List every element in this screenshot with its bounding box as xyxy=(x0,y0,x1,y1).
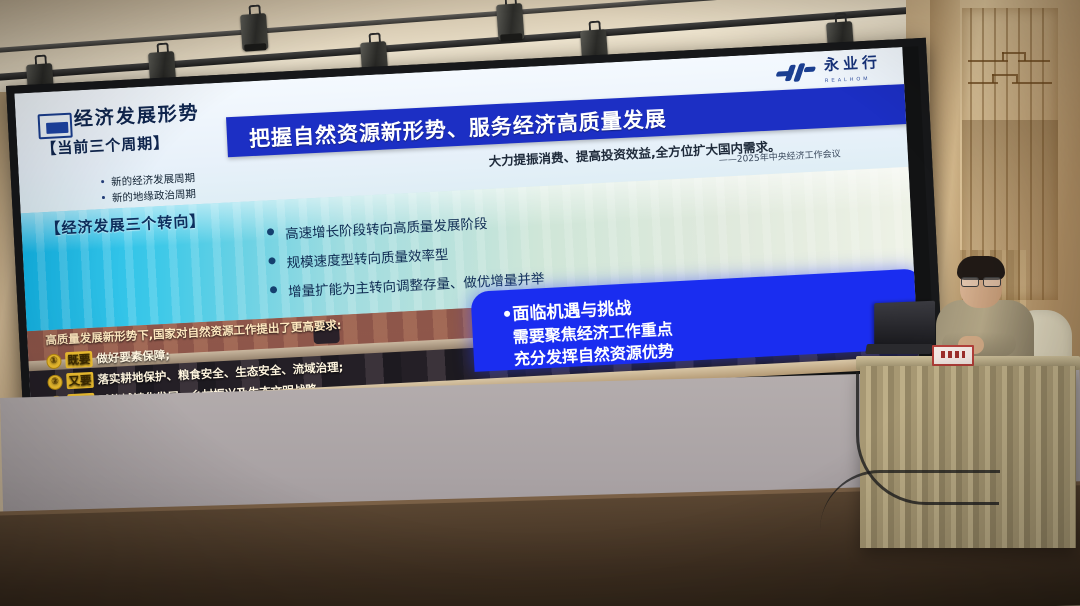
logo-mark-icon xyxy=(776,60,817,84)
laptop-screen xyxy=(874,301,935,350)
list-number: ① xyxy=(46,353,62,369)
list-text: 做好要素保障; xyxy=(96,347,170,367)
stage-light-icon xyxy=(496,3,525,45)
company-logo: 永业行 REALHOM xyxy=(776,54,882,86)
stage-light-icon xyxy=(240,13,269,55)
presentation-slide: 永业行 REALHOM 经济发展形势 【当前三个周期】 新的经济发展周期 新的地… xyxy=(14,47,918,407)
glasses-icon xyxy=(960,277,1002,285)
list-highlight: 既要 xyxy=(65,351,93,368)
list-number: ② xyxy=(47,374,63,390)
conference-hall-photo: 永业行 REALHOM 经济发展形势 【当前三个周期】 新的经济发展周期 新的地… xyxy=(0,0,1080,606)
floor-cable xyxy=(820,470,1000,533)
list-item: 规模速度型转向质量效率型 xyxy=(268,238,543,272)
logo-text-cn: 永业行 xyxy=(824,53,882,74)
section-block-icon xyxy=(38,113,73,140)
name-card xyxy=(932,345,974,366)
list-highlight: 又要 xyxy=(66,372,94,389)
list-item: 高速增长阶段转向高质量发展阶段 xyxy=(267,209,542,243)
laptop-keyboard xyxy=(865,344,933,354)
